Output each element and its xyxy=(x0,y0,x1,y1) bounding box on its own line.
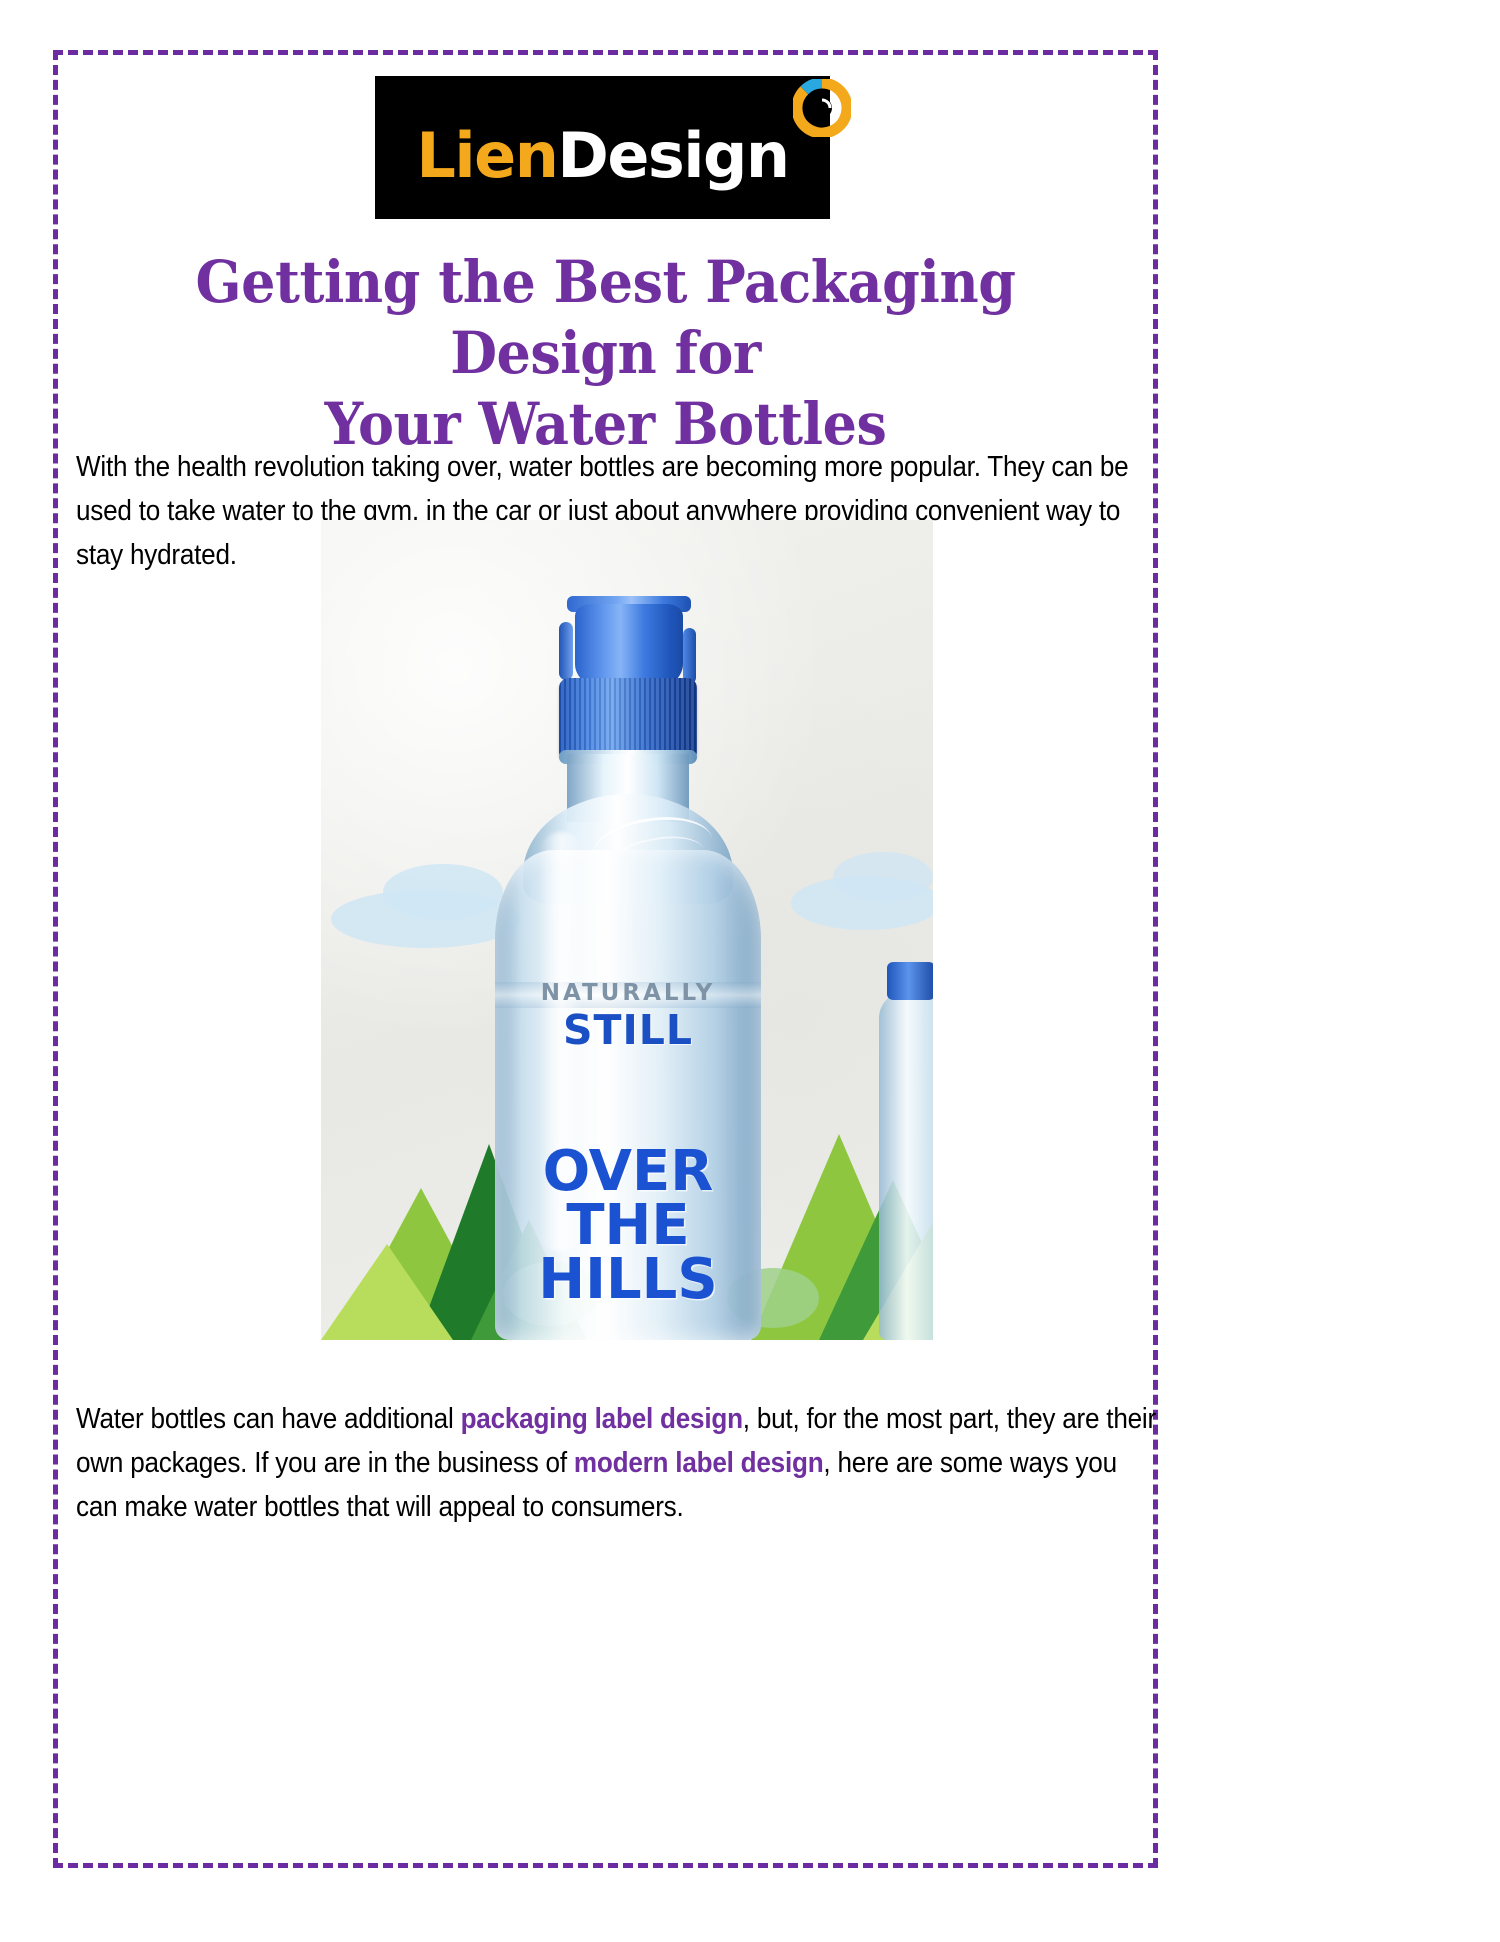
bottle-label-the: THE xyxy=(483,1198,773,1254)
document-page: LienDesign Getting the Best Packaging De… xyxy=(0,0,1500,1942)
page-content: LienDesign Getting the Best Packaging De… xyxy=(53,50,1158,1868)
sport-cap-top xyxy=(575,604,683,688)
bottle-label-hills: HILLS xyxy=(483,1252,773,1308)
logo-inner: LienDesign xyxy=(416,125,788,187)
closing-paragraph-part-1: Water bottles can have additional xyxy=(76,1403,461,1435)
liendesign-logo: LienDesign xyxy=(375,76,830,219)
page-title: Getting the Best Packaging Design for Yo… xyxy=(110,247,1100,459)
bottle-label-still: STILL xyxy=(483,1006,773,1054)
secondary-bottle-cap xyxy=(887,962,933,1000)
closing-paragraph: Water bottles can have additional packag… xyxy=(76,1397,1156,1529)
secondary-bottle xyxy=(879,992,933,1340)
link-modern-label-design[interactable]: modern label design xyxy=(574,1447,824,1479)
bottle-label-naturally: NATURALLY xyxy=(483,980,773,1006)
cloud-shape xyxy=(833,852,933,902)
logo-text-lien: Lien xyxy=(416,125,557,187)
water-bottle: NATURALLY STILL OVER THE HILLS xyxy=(483,582,773,1340)
link-packaging-label-design[interactable]: packaging label design xyxy=(461,1403,743,1435)
circular-swoosh-mark-icon xyxy=(793,79,851,137)
bottle-label-over: OVER xyxy=(483,1144,773,1200)
water-bottle-packaging-photo: NATURALLY STILL OVER THE HILLS xyxy=(321,520,933,1340)
sport-cap-tab-left xyxy=(559,622,573,680)
logo-text-design: Design xyxy=(557,125,788,187)
sport-cap-tab-right xyxy=(683,628,696,684)
hill-shape xyxy=(321,1244,453,1340)
page-title-line-1: Getting the Best Packaging Design for xyxy=(110,247,1100,389)
bottle-cap xyxy=(559,678,697,760)
